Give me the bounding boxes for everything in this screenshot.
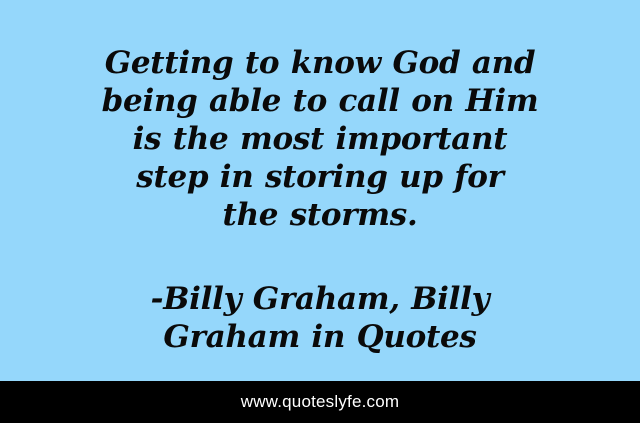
attribution-line: Graham in Quotes — [36, 318, 604, 356]
footer-bar: www.quoteslyfe.com — [0, 381, 640, 423]
quote-attribution: -Billy Graham, Billy Graham in Quotes — [36, 280, 604, 356]
attribution-line: -Billy Graham, Billy — [36, 280, 604, 318]
quote-line: step in storing up for — [36, 158, 604, 196]
site-url-label: www.quoteslyfe.com — [241, 392, 400, 412]
quote-line: Getting to know God and — [36, 44, 604, 82]
quote-card: Getting to know God and being able to ca… — [0, 0, 640, 423]
quote-line: being able to call on Him — [36, 82, 604, 120]
quote-text: Getting to know God and being able to ca… — [36, 44, 604, 234]
quote-line: the storms. — [36, 196, 604, 234]
quote-line: is the most important — [36, 120, 604, 158]
quote-content-area: Getting to know God and being able to ca… — [0, 0, 640, 381]
